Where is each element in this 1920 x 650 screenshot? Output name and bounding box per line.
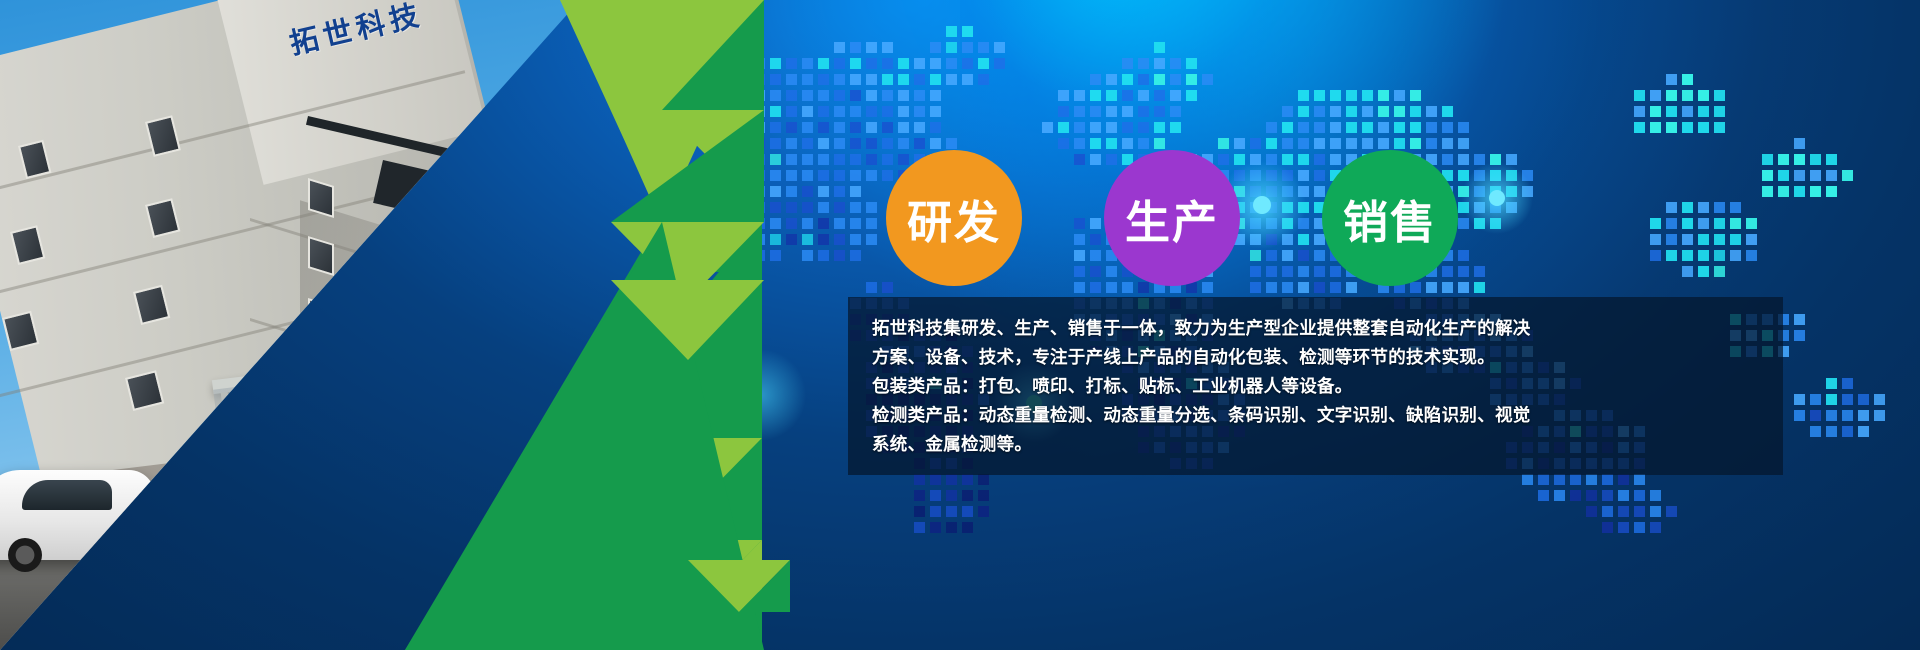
- circle-badge-rnd[interactable]: 研发: [886, 150, 1022, 286]
- circle-badge-sales[interactable]: 销售: [1322, 150, 1458, 286]
- banner-root: 拓世科技: [0, 0, 1920, 650]
- description-line-5: 系统、金属检测等。: [872, 431, 1772, 460]
- circle-badge-production[interactable]: 生产: [1104, 150, 1240, 286]
- description-line-3: 包装类产品：打包、喷印、打标、贴标、工业机器人等设备。: [872, 373, 1772, 402]
- description-line-1: 拓世科技集研发、生产、销售于一体，致力为生产型企业提供整套自动化生产的解决: [872, 315, 1772, 344]
- description-line-2: 方案、设备、技术，专注于产线上产品的自动化包装、检测等环节的技术实现。: [872, 344, 1772, 373]
- description-text-block: 拓世科技集研发、生产、销售于一体，致力为生产型企业提供整套自动化生产的解决 方案…: [872, 315, 1772, 460]
- description-line-4: 检测类产品：动态重量检测、动态重量分选、条码识别、文字识别、缺陷识别、视觉: [872, 402, 1772, 431]
